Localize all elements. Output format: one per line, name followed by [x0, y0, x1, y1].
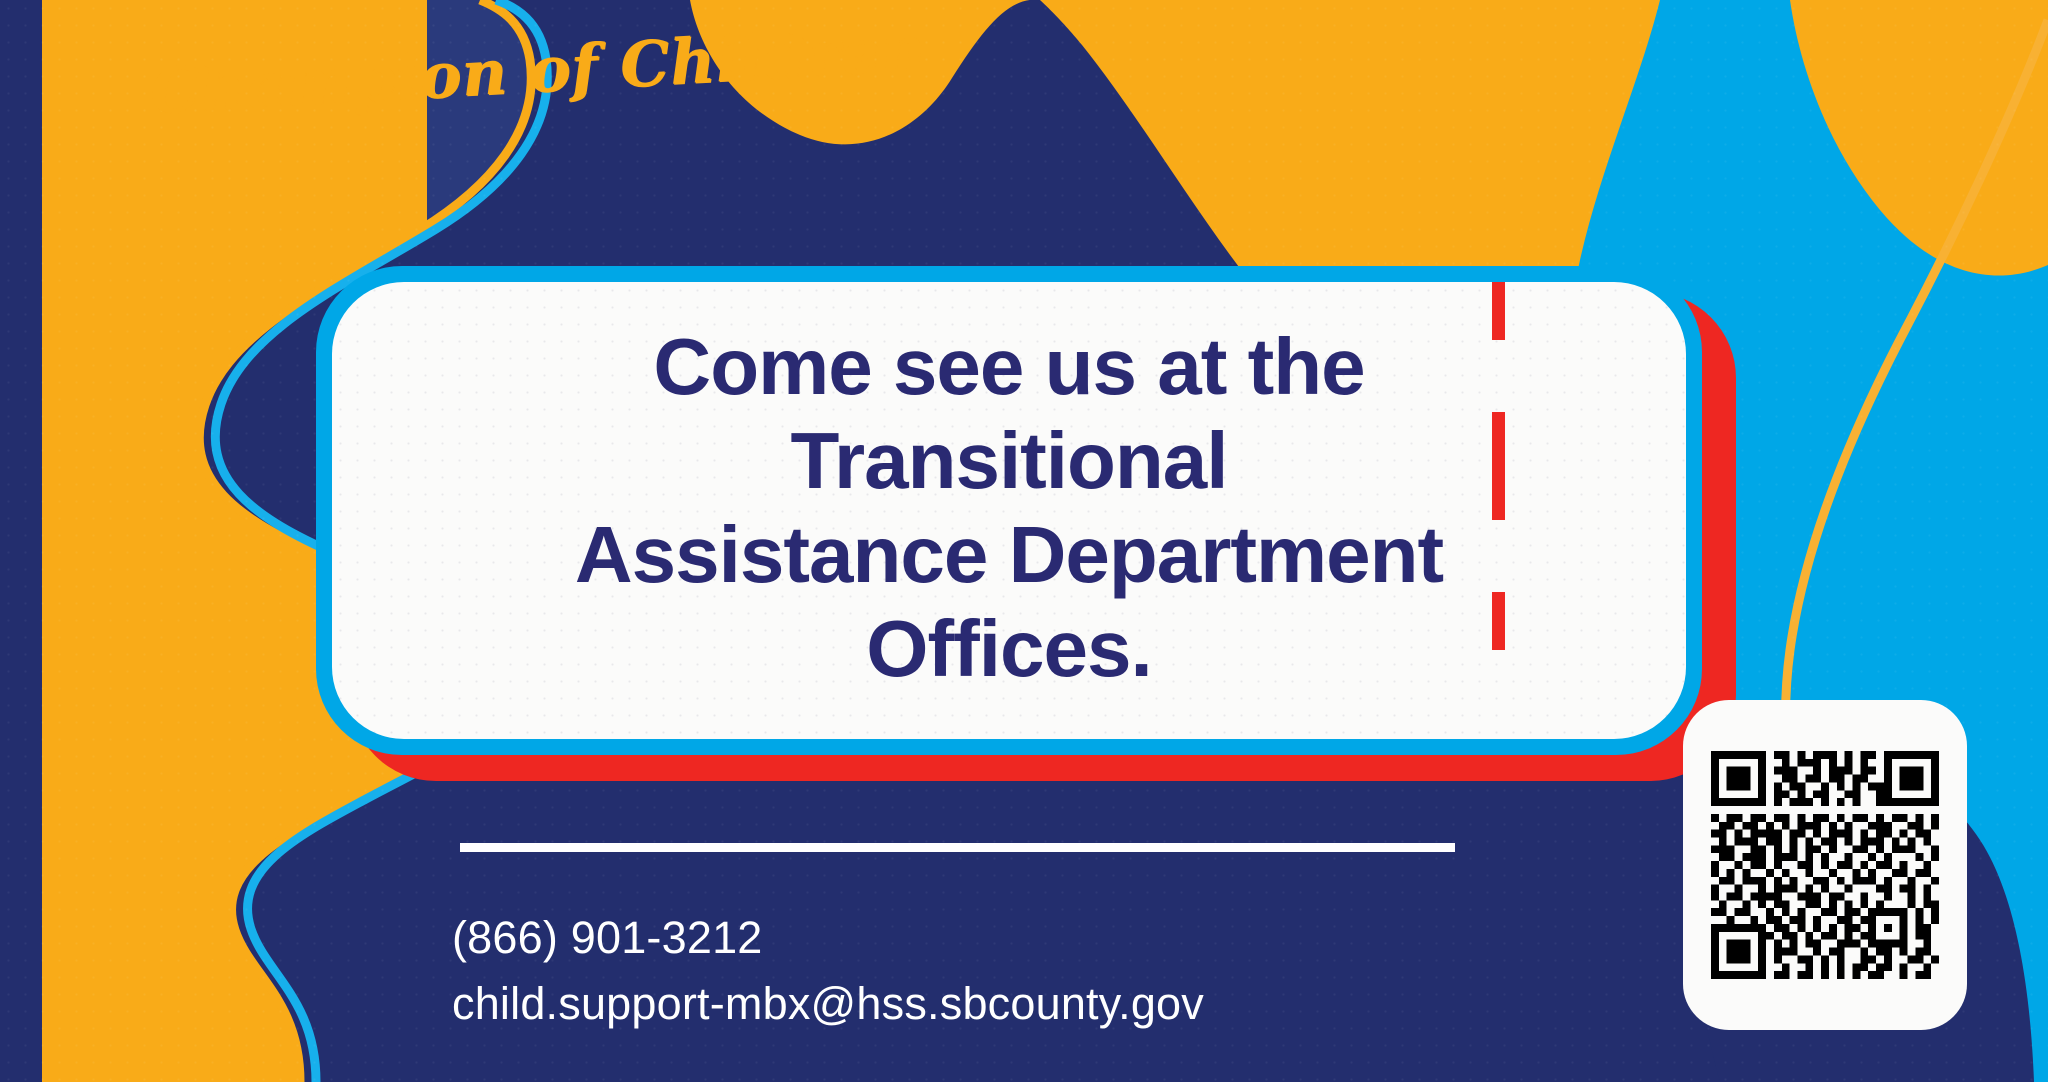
qr-code-glyph: [1711, 742, 1939, 988]
contact-block: (866) 901-3212 child.support-mbx@hss.sbc…: [452, 905, 1204, 1037]
divider-rule: [460, 843, 1455, 852]
card-heading-line-2: Transitional: [791, 416, 1228, 505]
card-heading-line-1: Come see us at the: [653, 322, 1364, 411]
phone-number[interactable]: (866) 901-3212: [452, 905, 1204, 971]
email-address[interactable]: child.support-mbx@hss.sbcounty.gov: [452, 971, 1204, 1037]
card-heading-line-3: Assistance Department: [575, 510, 1443, 599]
poster-canvas: Champion of Children Come see us at the …: [0, 0, 2048, 1082]
card-heading-line-4: Offices.: [866, 604, 1151, 693]
card-heading: Come see us at the Transitional Assistan…: [332, 320, 1686, 696]
callout-card: Come see us at the Transitional Assistan…: [316, 266, 1736, 781]
qr-code[interactable]: [1683, 700, 1967, 1030]
card-body: Come see us at the Transitional Assistan…: [332, 282, 1686, 739]
